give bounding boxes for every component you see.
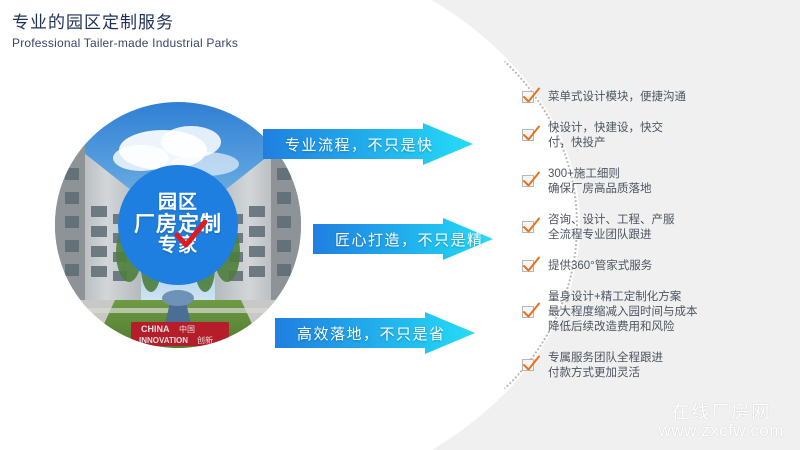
checkbox-checked-icon	[522, 175, 536, 189]
arrow-label-3: 高效落地，不只是省	[297, 312, 446, 354]
list-item-label: 快设计，快建设，快交 付，快投产	[548, 121, 663, 151]
arrow-banner-2[interactable]: 匠心打造，不只是精	[313, 218, 493, 260]
slide-canvas: 专业的园区定制服务 Professional Tailer-made Indus…	[0, 0, 800, 450]
title-english: Professional Tailer-made Industrial Park…	[12, 35, 238, 51]
watermark-site-name: 在线厂房网	[658, 403, 784, 422]
arrow-label-2: 匠心打造，不只是精	[335, 218, 484, 260]
list-item[interactable]: 量身设计+精工定制化方案 最大程度缩减入园时间与成本 降低后续改造费用和风险	[522, 290, 784, 335]
page-title: 专业的园区定制服务 Professional Tailer-made Indus…	[12, 12, 238, 51]
checkbox-checked-icon	[522, 260, 536, 274]
badge-line-1: 园区	[158, 193, 198, 214]
checkbox-checked-icon	[522, 129, 536, 143]
title-chinese: 专业的园区定制服务	[12, 12, 238, 34]
list-item[interactable]: 300+施工细则 确保厂房高品质落地	[522, 167, 784, 197]
badge-line-3: 专家	[158, 236, 198, 257]
watermark-url: www.zxcfw.com	[658, 422, 784, 440]
list-item-label: 菜单式设计模块，便捷沟通	[548, 90, 686, 105]
arrow-banner-3[interactable]: 高效落地，不只是省	[275, 312, 475, 354]
badge-line-2: 厂房定制	[134, 214, 222, 237]
list-item-label: 300+施工细则 确保厂房高品质落地	[548, 167, 652, 197]
checkbox-checked-icon	[522, 221, 536, 235]
list-item[interactable]: 快设计，快建设，快交 付，快投产	[522, 121, 784, 151]
checkbox-checked-icon	[522, 359, 536, 373]
feature-checklist: 菜单式设计模块，便捷沟通 快设计，快建设，快交 付，快投产 300+施工细则 确…	[522, 90, 784, 397]
list-item[interactable]: 专属服务团队全程跟进 付款方式更加灵活	[522, 351, 784, 381]
list-item[interactable]: 提供360°管家式服务	[522, 259, 784, 274]
watermark: 在线厂房网 www.zxcfw.com	[658, 403, 784, 440]
list-item-label: 专属服务团队全程跟进 付款方式更加灵活	[548, 351, 663, 381]
list-item-label: 咨询、设计、工程、产服 全流程专业团队跟进	[548, 213, 675, 243]
center-badge: 园区 厂房定制 专家	[118, 165, 238, 285]
list-item[interactable]: 菜单式设计模块，便捷沟通	[522, 90, 784, 105]
list-item-label: 提供360°管家式服务	[548, 259, 652, 274]
list-item-label: 量身设计+精工定制化方案 最大程度缩减入园时间与成本 降低后续改造费用和风险	[548, 290, 698, 335]
checkbox-checked-icon	[522, 306, 536, 320]
list-item[interactable]: 咨询、设计、工程、产服 全流程专业团队跟进	[522, 213, 784, 243]
arrow-banner-1[interactable]: 专业流程，不只是快	[263, 123, 473, 165]
checkbox-checked-icon	[522, 91, 536, 105]
arrow-label-1: 专业流程，不只是快	[285, 123, 434, 165]
